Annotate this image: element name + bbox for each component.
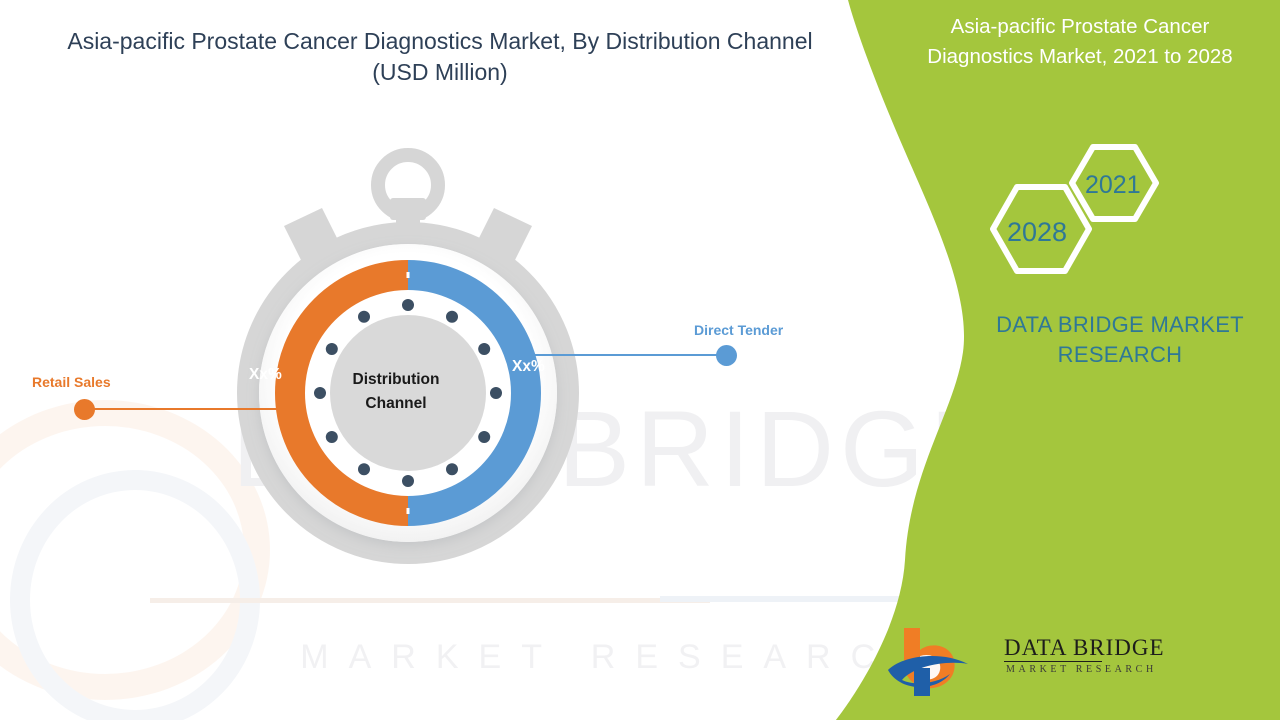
panel-title-line1: Asia-pacific Prostate Cancer: [951, 15, 1210, 38]
infographic-canvas: DATA BRIDGE MARKET RESEARCH Asia-pacific…: [0, 0, 1280, 720]
brand-name-line2: RESEARCH: [1058, 342, 1183, 367]
data-bridge-logo-mark-icon: [884, 620, 999, 700]
logo-sub-text: MARKET RESEARCH: [1006, 664, 1157, 675]
hexagon-label-2021: 2021: [1085, 171, 1141, 200]
panel-title-line2: Diagnostics Market, 2021 to 2028: [927, 45, 1232, 68]
hexagon-outlines: [985, 135, 1185, 285]
brand-name-line1: DATA BRIDGE MARKET: [996, 312, 1244, 337]
logo-main-text: DATA BRIDGE: [1004, 635, 1165, 661]
hexagon-group: 2021 2028: [985, 135, 1185, 285]
data-bridge-logo: DATA BRIDGE MARKET RESEARCH: [884, 620, 1104, 700]
hexagon-label-2028: 2028: [1007, 217, 1067, 248]
panel-title: Asia-pacific Prostate Cancer Diagnostics…: [890, 12, 1270, 71]
logo-divider: [1004, 661, 1102, 662]
brand-name: DATA BRIDGE MARKET RESEARCH: [960, 310, 1280, 369]
